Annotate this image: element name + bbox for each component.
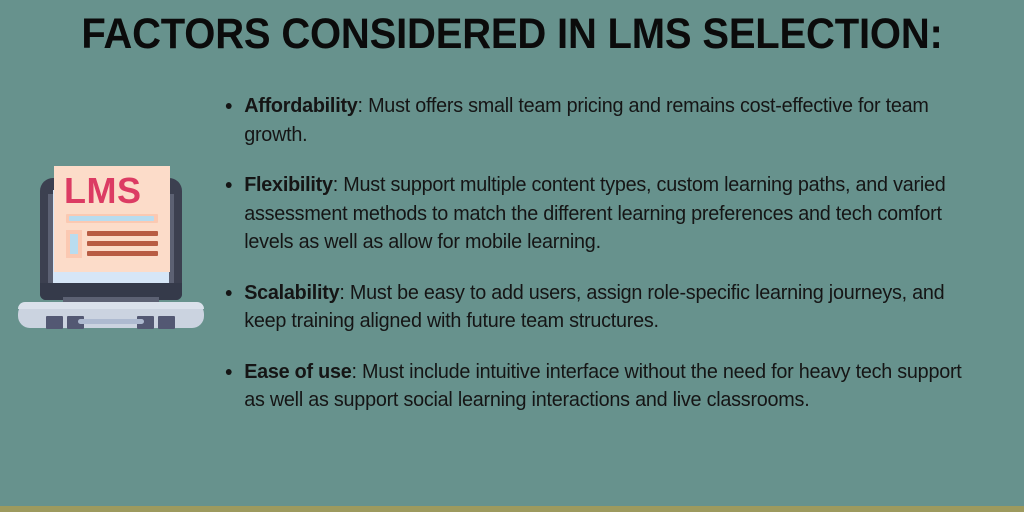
list-item-term: Scalability	[244, 281, 339, 304]
page-title: FACTORS CONSIDERED IN LMS SELECTION:	[36, 10, 988, 58]
list-item-term: Affordability	[244, 94, 357, 117]
lms-card-text-line	[87, 251, 158, 256]
lms-card-thumb	[70, 234, 78, 254]
list-item-term: Flexibility	[244, 173, 333, 196]
list-item: Scalability: Must be easy to add users, …	[222, 279, 984, 336]
list-item: Ease of use: Must include intuitive inte…	[222, 358, 984, 415]
laptop-lms-icon: LMS	[16, 166, 206, 328]
lms-card-title-fill	[69, 216, 154, 221]
list-item-text: Must be easy to add users, assign role-s…	[244, 281, 944, 333]
bullet-marker-icon	[226, 369, 232, 375]
laptop-key	[158, 316, 175, 329]
laptop-touchpad	[78, 319, 144, 324]
laptop-key	[46, 316, 63, 329]
list-item: Affordability: Must offers small team pr…	[222, 92, 984, 149]
bullet-marker-icon	[226, 290, 232, 296]
slide-canvas: FACTORS CONSIDERED IN LMS SELECTION: LMS…	[0, 0, 1024, 512]
bullet-marker-icon	[226, 182, 232, 188]
list-item: Flexibility: Must support multiple conte…	[222, 171, 984, 257]
list-item-term: Ease of use	[244, 360, 351, 383]
lms-card-text-line	[87, 241, 158, 246]
lms-card-text-line	[87, 231, 158, 236]
bottom-accent-strip	[0, 506, 1024, 512]
laptop-base-highlight	[18, 302, 204, 309]
lms-card-label: LMS	[64, 171, 160, 211]
bullet-marker-icon	[226, 103, 232, 109]
factors-list: Affordability: Must offers small team pr…	[222, 92, 1012, 415]
list-item-text: Must support multiple content types, cus…	[244, 173, 945, 253]
